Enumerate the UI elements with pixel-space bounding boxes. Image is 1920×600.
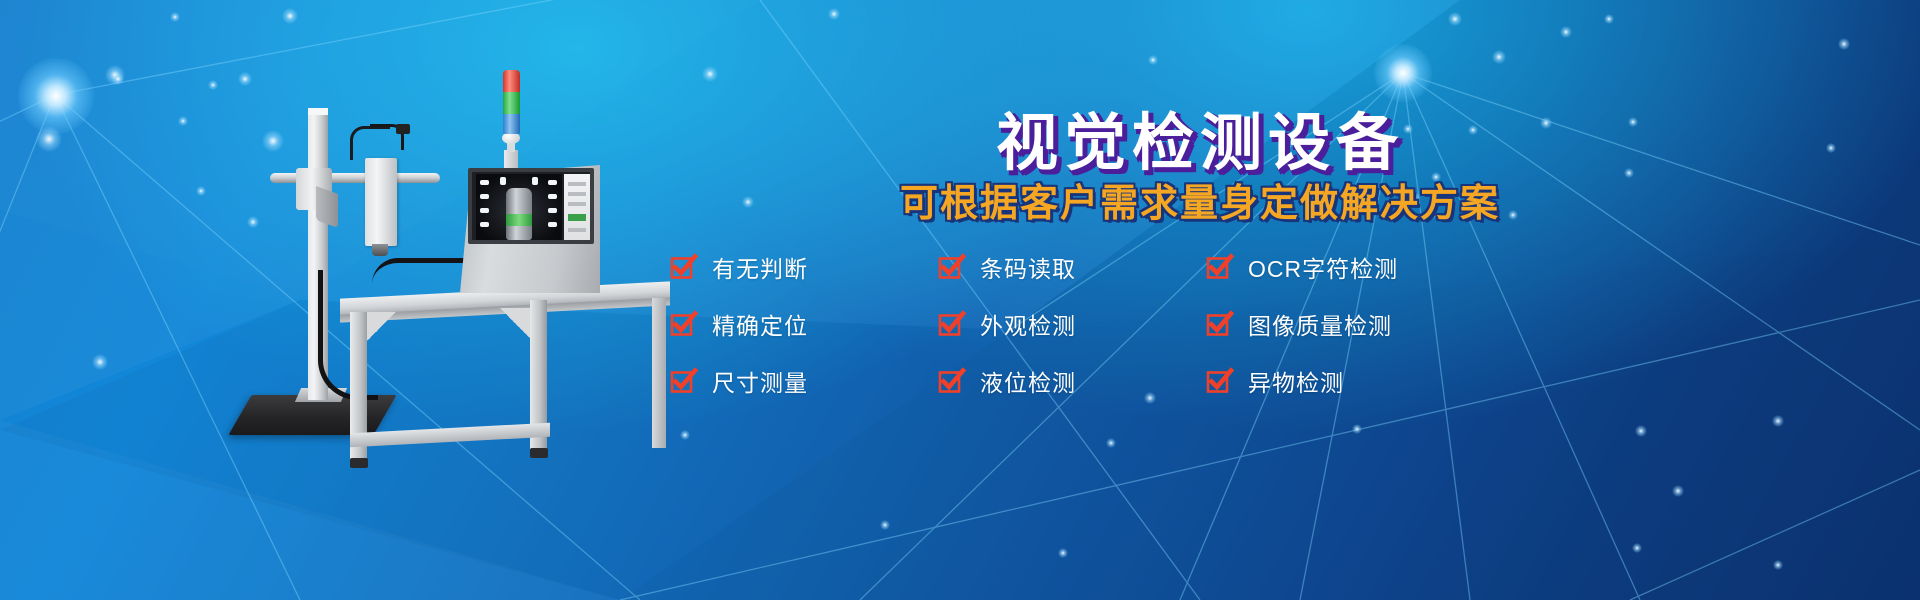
- feature-item: OCR字符检测: [1206, 250, 1506, 284]
- banner-title: 视觉检测设备: [840, 92, 1560, 182]
- frame-gusset-right: [500, 308, 530, 338]
- feature-item: 精确定位: [670, 307, 938, 341]
- feature-item: 外观检测: [938, 307, 1206, 341]
- checkbox-checked-icon: [938, 368, 964, 394]
- feature-label: 有无判断: [712, 250, 808, 284]
- feature-label: 条码读取: [980, 250, 1076, 284]
- table-foot-right: [530, 448, 548, 458]
- signal-light-blue: [503, 112, 520, 134]
- signal-light-green: [503, 90, 520, 114]
- banner-content: 视觉检测设备 可根据客户需求量身定做解决方案 有无判断: [640, 0, 1920, 600]
- checkbox-checked-icon: [1206, 254, 1232, 280]
- feature-item: 液位检测: [938, 364, 1206, 398]
- camera-lens: [372, 244, 388, 256]
- checkbox-checked-icon: [938, 254, 964, 280]
- monitor-screen: [476, 174, 562, 240]
- table-foot-left: [350, 458, 368, 468]
- status-panel: [564, 174, 590, 240]
- bottle-label: [506, 214, 532, 226]
- checkbox-checked-icon: [670, 254, 696, 280]
- feature-item: 条码读取: [938, 250, 1206, 284]
- checkbox-checked-icon: [670, 368, 696, 394]
- signal-light-red: [503, 70, 520, 92]
- feature-label: 尺寸测量: [712, 364, 808, 398]
- feature-label: 液位检测: [980, 364, 1076, 398]
- checkbox-checked-icon: [1206, 311, 1232, 337]
- vision-inspection-machine: [200, 40, 670, 520]
- feature-item: 尺寸测量: [670, 364, 938, 398]
- checkbox-checked-icon: [670, 311, 696, 337]
- camera-connector: [396, 124, 410, 134]
- frame-gusset-left: [366, 312, 396, 342]
- feature-item: 有无判断: [670, 250, 938, 284]
- feature-label: 图像质量检测: [1248, 307, 1392, 341]
- promo-banner: 视觉检测设备 可根据客户需求量身定做解决方案 有无判断: [0, 0, 1920, 600]
- table-stretcher: [350, 423, 550, 447]
- signal-tower-base: [504, 150, 518, 168]
- feature-label: 精确定位: [712, 307, 808, 341]
- feature-item: 异物检测: [1206, 364, 1506, 398]
- post-cap: [308, 108, 328, 115]
- feature-list: 有无判断 条码读取 OCR字符检测: [670, 238, 1790, 409]
- feature-label: OCR字符检测: [1248, 250, 1398, 284]
- feature-label: 外观检测: [980, 307, 1076, 341]
- checkbox-checked-icon: [1206, 368, 1232, 394]
- checkbox-checked-icon: [938, 311, 964, 337]
- feature-label: 异物检测: [1248, 364, 1344, 398]
- feature-item: 图像质量检测: [1206, 307, 1506, 341]
- camera-head: [365, 158, 397, 246]
- banner-subtitle: 可根据客户需求量身定做解决方案: [760, 172, 1640, 227]
